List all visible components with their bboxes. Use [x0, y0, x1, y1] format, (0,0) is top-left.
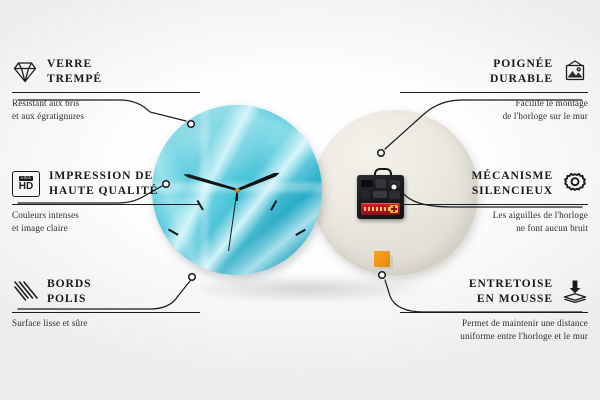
feature-header: ultra HD IMPRESSION DE HAUTE QUALITÉ	[12, 167, 200, 201]
feature-divider	[12, 312, 200, 313]
mechanism-detail	[361, 190, 370, 199]
product-feature-infographic: VERRE TREMPÉ Résistant aux bris et aux é…	[0, 0, 600, 400]
clock-tick	[158, 268, 169, 270]
feature-divider	[400, 204, 588, 205]
feature-divider	[400, 312, 588, 313]
feature-description: Surface lisse et sûre	[12, 317, 200, 330]
picture-frame-hook-icon	[562, 59, 588, 85]
feature-description: Les aiguilles de l'horloge ne font aucun…	[400, 209, 588, 235]
gear-icon	[562, 171, 588, 197]
battery-plus-terminal-icon	[390, 205, 398, 213]
feature-title: VERRE TREMPÉ	[47, 57, 102, 87]
feature-title: POIGNÉE DURABLE	[490, 57, 553, 87]
battery	[361, 203, 400, 215]
feature-description: Facilite le montage de l'horloge sur le …	[400, 97, 588, 123]
mechanism-detail	[361, 180, 373, 187]
feature-title: ENTRETOISE EN MOUSSE	[469, 277, 553, 307]
feature-header: MÉCANISME SILENCIEUX	[400, 167, 588, 201]
feature-description: Résistant aux bris et aux égratignures	[12, 97, 200, 123]
mechanism-body	[357, 175, 404, 219]
diamond-icon	[12, 59, 38, 85]
feature-title: MÉCANISME SILENCIEUX	[471, 169, 553, 199]
feature-title: IMPRESSION DE HAUTE QUALITÉ	[49, 169, 158, 199]
feature-description: Couleurs intenses et image claire	[12, 209, 200, 235]
battery-label	[364, 207, 390, 211]
feature-title: BORDS POLIS	[47, 277, 91, 307]
ultra-hd-main-text: HD	[19, 182, 33, 192]
feature-bords-polis[interactable]: BORDS POLIS Surface lisse et sûre	[12, 275, 200, 330]
feature-poignee-durable[interactable]: POIGNÉE DURABLE Facilite le montage de l…	[400, 55, 588, 123]
mechanism-detail	[389, 180, 400, 188]
feature-verre-trempe[interactable]: VERRE TREMPÉ Résistant aux bris et aux é…	[12, 55, 200, 123]
feature-header: VERRE TREMPÉ	[12, 55, 200, 89]
clock-center-cap	[235, 188, 240, 193]
arrow-down-onto-pad-icon	[562, 279, 588, 305]
clock-tick	[305, 268, 316, 270]
mechanism-detail	[376, 179, 386, 188]
feature-header: ENTRETOISE EN MOUSSE	[400, 275, 588, 309]
diagonal-stripes-icon	[12, 279, 38, 305]
feature-mecanisme-silencieux[interactable]: MÉCANISME SILENCIEUX Les aiguilles de l'…	[400, 167, 588, 235]
foam-spacer	[374, 251, 390, 267]
feature-divider	[400, 92, 588, 93]
feature-impression-hd[interactable]: ultra HD IMPRESSION DE HAUTE QUALITÉ Cou…	[12, 167, 200, 235]
feature-divider	[12, 204, 200, 205]
feature-header: POIGNÉE DURABLE	[400, 55, 588, 89]
feature-header: BORDS POLIS	[12, 275, 200, 309]
feature-entretoise-mousse[interactable]: ENTRETOISE EN MOUSSE Permet de maintenir…	[400, 275, 588, 343]
ultra-hd-badge-icon: ultra HD	[12, 171, 40, 197]
feature-divider	[12, 92, 200, 93]
mechanism-detail	[373, 191, 387, 198]
feature-description: Permet de maintenir une distance uniform…	[400, 317, 588, 343]
clock-mechanism	[357, 168, 404, 219]
mechanism-detail	[389, 191, 400, 199]
